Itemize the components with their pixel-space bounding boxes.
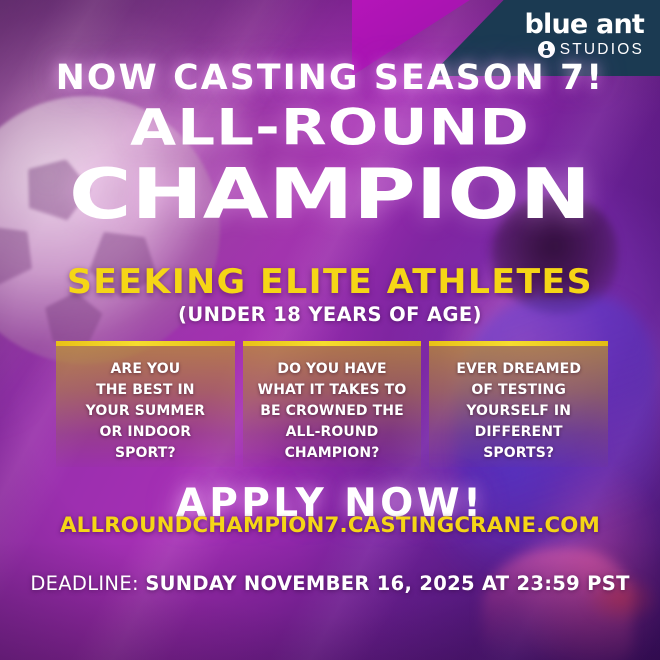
question-box-2: DO YOU HAVE WHAT IT TAKES TO BE CROWNED …	[243, 341, 422, 467]
casting-call-poster: blue ant STUDIOS NOW CASTING SEASON 7! A…	[0, 0, 660, 660]
question-box-3: EVER DREAMED OF TESTING YOURSELF IN DIFF…	[429, 341, 608, 467]
question-box-1-text: ARE YOU THE BEST IN YOUR SUMMER OR INDOO…	[62, 359, 229, 464]
application-url[interactable]: ALLROUNDCHAMPION7.CASTINGCRANE.COM	[3, 513, 656, 538]
deadline-row: DEADLINE: SUNDAY NOVEMBER 16, 2025 AT 23…	[0, 572, 660, 595]
age-requirement-text: (UNDER 18 YEARS OF AGE)	[0, 303, 660, 326]
logo-sub-row: STUDIOS	[525, 41, 644, 58]
question-box-1: ARE YOU THE BEST IN YOUR SUMMER OR INDOO…	[56, 341, 235, 467]
show-title-line-2: CHAMPION	[0, 162, 660, 227]
show-title: ALL-ROUND CHAMPION	[0, 103, 660, 230]
question-box-3-text: EVER DREAMED OF TESTING YOURSELF IN DIFF…	[435, 359, 602, 464]
question-boxes: ARE YOU THE BEST IN YOUR SUMMER OR INDOO…	[56, 341, 608, 467]
question-box-2-text: DO YOU HAVE WHAT IT TAKES TO BE CROWNED …	[249, 359, 416, 464]
blue-ant-badge-icon	[538, 41, 555, 58]
deadline-label: DEADLINE:	[30, 572, 138, 595]
show-title-line-1: ALL-ROUND	[0, 105, 660, 151]
blue-ant-studios-logo: blue ant STUDIOS	[525, 11, 644, 58]
seeking-elite-athletes-text: SEEKING ELITE ATHLETES	[0, 262, 660, 302]
logo-studios-text: STUDIOS	[560, 42, 644, 58]
logo-wordmark: blue ant	[525, 11, 644, 38]
now-casting-headline: NOW CASTING SEASON 7!	[3, 58, 656, 98]
deadline-value: SUNDAY NOVEMBER 16, 2025 AT 23:59 PST	[145, 572, 629, 595]
